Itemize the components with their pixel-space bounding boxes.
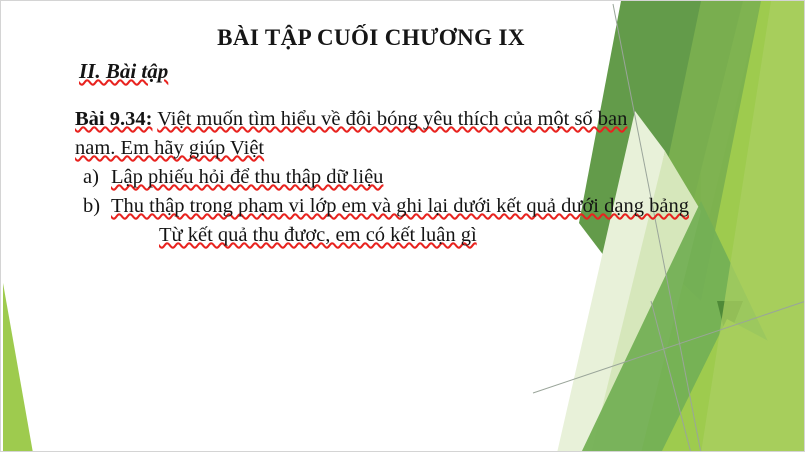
list-item-marker-a: a) <box>75 163 111 192</box>
page-title: BÀI TẬP CUỐI CHƯƠNG IX <box>1 25 741 51</box>
slide-content: BÀI TẬP CUỐI CHƯƠNG IX II. Bài tập Bài 9… <box>1 1 805 452</box>
list-item-marker-b: b) <box>75 192 111 221</box>
exercise-prompt-line-1: Việt muốn tìm hiểu về đôi bóng yêu thích… <box>157 108 627 130</box>
list-item: a) Lập phiếu hỏi để thu thập dữ liệu <box>75 163 747 192</box>
exercise-item-list: a) Lập phiếu hỏi để thu thập dữ liệu b) … <box>75 163 747 221</box>
closing-line: Từ kết quả thu được, em có kết luận gì <box>75 221 747 250</box>
body-text-block: Bài 9.34: Việt muốn tìm hiểu về đôi bóng… <box>75 105 747 250</box>
section-heading-text: II. Bài tập <box>79 59 168 83</box>
exercise-prompt-continued: nam. Em hãy giúp Việt <box>75 134 747 163</box>
exercise-label: Bài 9.34: <box>75 108 152 130</box>
exercise-prompt: Bài 9.34: Việt muốn tìm hiểu về đôi bóng… <box>75 105 747 134</box>
list-item: b) Thu thập trong phạm vi lớp em và ghi … <box>75 192 747 221</box>
closing-line-text: Từ kết quả thu được, em có kết luận gì <box>159 224 477 246</box>
exercise-prompt-line-2: nam. Em hãy giúp Việt <box>75 137 264 159</box>
section-heading: II. Bài tập <box>79 59 168 84</box>
slide-canvas: BÀI TẬP CUỐI CHƯƠNG IX II. Bài tập Bài 9… <box>0 0 805 452</box>
list-item-text-b: Thu thập trong phạm vi lớp em và ghi lại… <box>111 192 747 221</box>
list-item-text-a: Lập phiếu hỏi để thu thập dữ liệu <box>111 163 747 192</box>
